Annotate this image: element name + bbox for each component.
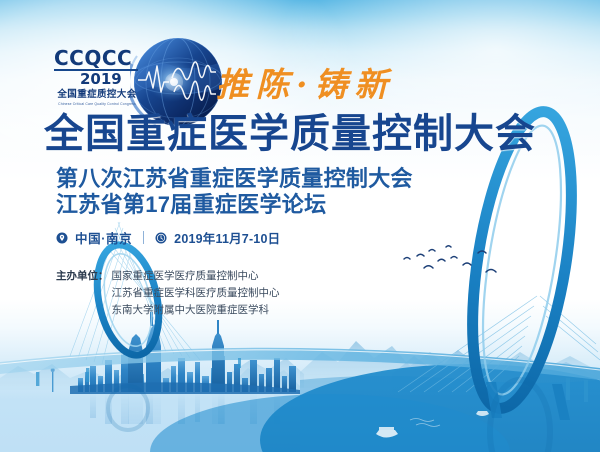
- event-meta: 中国·南京 2019年11月7-10日: [56, 228, 280, 247]
- logo-english-name: Chinese Critical Care Quality Control Co…: [52, 102, 142, 106]
- event-date: 2019年11月7-10日: [174, 228, 280, 247]
- logo-year: 2019: [80, 72, 122, 87]
- page-title: 全国重症医学质量控制大会: [44, 114, 536, 154]
- organizer-item: 江苏省重症医学科医疗质量控制中心: [112, 285, 280, 302]
- organizers-list: 国家重症医学医疗质量控制中心 江苏省重症医学科医疗质量控制中心 东南大学附属中大…: [112, 268, 280, 319]
- location-pin-icon: [56, 232, 68, 244]
- calligraphy-slogan: 推陈·铸新: [216, 58, 395, 106]
- organizers-label: 主办单位：: [56, 268, 109, 285]
- organizers-block: 主办单位： 国家重症医学医疗质量控制中心 江苏省重症医学科医疗质量控制中心 东南…: [56, 268, 280, 319]
- event-location: 中国·南京: [75, 228, 132, 247]
- subtitle-secondary: 江苏省第17届重症医学论坛: [56, 192, 326, 218]
- logo-wordmark: CCQCC 2019 全国重症质控大会 Chinese Critical Car…: [52, 44, 144, 120]
- logo-acronym: CCQCC: [54, 48, 132, 68]
- meta-divider: [143, 231, 144, 244]
- organizer-item: 国家重症医学医疗质量控制中心: [112, 268, 280, 285]
- clock-icon: [155, 232, 167, 244]
- subtitle-primary: 第八次江苏省重症医学质量控制大会: [56, 166, 413, 192]
- logo-chinese-name: 全国重症质控大会: [52, 90, 142, 100]
- conference-poster: CCQCC 2019 全国重症质控大会 Chinese Critical Car…: [0, 0, 600, 452]
- organizer-item: 东南大学附属中大医院重症医学科: [112, 302, 280, 319]
